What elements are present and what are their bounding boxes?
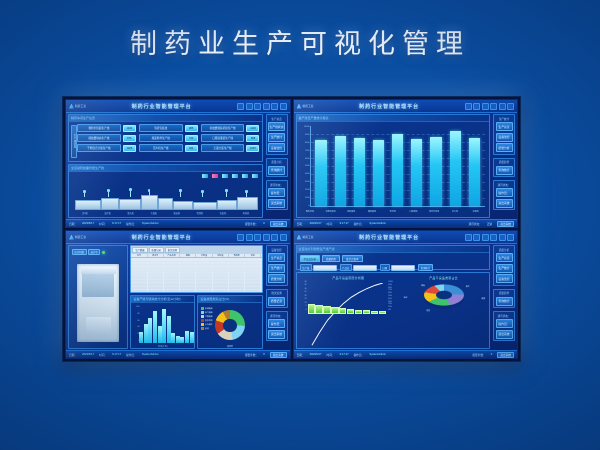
table-cell — [148, 276, 164, 279]
quality-filters[interactable]: 生产线 产品名 日期 — [298, 263, 489, 272]
table-cell — [148, 272, 164, 275]
table-cell — [245, 276, 261, 279]
close-icon[interactable] — [280, 103, 287, 110]
param-label: 硬胶囊填充生产线 — [77, 134, 121, 142]
table-cell — [131, 269, 147, 272]
param-row: 无菌分装生产线 1067 — [201, 144, 260, 152]
pareto-y2-axis: 100% 90% 80% 70% 60% 50% 40% 30% — [388, 282, 398, 312]
table-cell — [196, 272, 212, 275]
production-data-table[interactable]: 生产数据 质量记录 批次追溯 序号 批次号 产品名称 规格 计划量 — [130, 245, 262, 293]
screen4-body: 全自动片剂智能生产线产线 不良品分析 质量趋势 批次合格率 生产线 — [294, 243, 518, 351]
x-tick: 混合分装线 — [428, 210, 441, 213]
y-tick: 40 — [299, 282, 307, 284]
table-cell — [180, 287, 196, 290]
screen3-body: 压片机组 运行中 生产数据 — [66, 243, 290, 351]
capacity-y-axis: 100 80 60 40 20 0 — [132, 307, 139, 343]
screen3-sidebar[interactable]: 设备监控 生产总览 生产统计 质量分析 批次追溯 质量记录 通讯状态： 操作员：… — [265, 243, 290, 351]
table-cell — [229, 258, 245, 261]
sensor-marker-icon — [130, 190, 131, 197]
equipment-unit — [101, 198, 120, 211]
close-icon[interactable] — [280, 234, 287, 241]
table-cell — [180, 269, 196, 272]
table-cell — [164, 262, 180, 265]
status-conn-label: 通讯状态： — [468, 222, 481, 226]
table-cell — [164, 269, 180, 272]
sidebar-item-equipment[interactable]: 设备监控 — [268, 143, 285, 152]
filter-line[interactable]: 生产线 — [300, 264, 337, 271]
restore-icon[interactable] — [473, 103, 480, 110]
status-date-value: 2023/6/17 — [310, 353, 322, 356]
defect-bar — [355, 310, 362, 314]
bar — [373, 140, 384, 206]
table-cell — [245, 258, 261, 261]
sidebar-item-query[interactable]: 查询统计 — [496, 166, 513, 175]
tab-production-data[interactable]: 生产数据 — [132, 247, 147, 253]
screen1-sidebar[interactable]: 生产总览 生产线状态 生产统计 设备监控 质量分析 查询统计 通讯状态： 操作员… — [265, 112, 290, 220]
table-cell — [180, 280, 196, 283]
station-label: 混合机 — [104, 211, 111, 215]
fault-pie-body: 机械故障 电气故障 气路故障 程序异常 人为操作 其他 — [198, 303, 261, 348]
quality-card-title: 全自动片剂智能生产线产线 — [297, 246, 490, 253]
status-alarm-label: 报警条数： — [245, 353, 258, 357]
table-cell — [196, 265, 212, 268]
sidebar-group-query: 质量趋势 查询统计 — [493, 158, 515, 178]
table-cell — [131, 272, 147, 275]
table-cell — [213, 287, 229, 290]
table-cell — [148, 269, 164, 272]
histogram-bar — [167, 316, 171, 343]
screen4-sidebar[interactable]: 质量分析 生产总览 生产统计 设备监控 质量趋势 查询统计 通讯状态： 操作员：… — [492, 243, 517, 351]
sidebar-item-exit[interactable]: 退出系统 — [496, 199, 513, 208]
sidebar-item-overview[interactable]: 生产总览 — [496, 122, 513, 131]
minimize-icon[interactable] — [465, 234, 472, 241]
y-tick: 60 — [132, 321, 139, 323]
status-user-label: 操作员： — [126, 222, 137, 226]
sensor-marker-icon — [180, 191, 181, 197]
legend-item: 其他 — [201, 327, 212, 330]
table-cell — [180, 283, 196, 286]
equipment-main-row: 压片机组 运行中 生产数据 — [68, 245, 263, 349]
screen2-statusbar: 日期： 2023/6/17 时间： 9:17:17 操作员： SystemAdm… — [294, 219, 518, 227]
sidebar-group-equipment: 设备监控 生产总览 生产统计 质量分析 — [266, 245, 288, 286]
table-cell — [213, 276, 229, 279]
table-cell — [164, 290, 180, 293]
sidebar-group-title: 通讯状态： — [268, 183, 285, 187]
defect-bar — [339, 308, 346, 314]
table-cell — [196, 276, 212, 279]
x-tick: 压片线 — [448, 210, 461, 213]
column-header: 批次号 — [148, 254, 164, 257]
production-chart-body: 10000 9000 8000 7000 6000 5000 4000 3000… — [297, 122, 490, 217]
param-value: 742 — [185, 135, 198, 142]
status-time-value: 9:17:17 — [340, 222, 349, 225]
legend-item: 电气故障 — [201, 311, 212, 314]
sidebar-group-trend: 质量趋势 查询统计 — [493, 289, 515, 309]
defect-bar — [379, 311, 386, 314]
x-tick: 口服液线 — [407, 210, 420, 213]
table-cell — [229, 287, 245, 290]
table-cell — [180, 290, 196, 293]
sidebar-item-records[interactable]: 质量记录 — [268, 297, 285, 306]
status-dot-icon — [102, 251, 105, 254]
defect-bar — [315, 305, 322, 314]
machine-state-label: 运行中 — [88, 249, 100, 255]
filter-product[interactable]: 产品名 — [340, 264, 377, 271]
sidebar-item-exit[interactable]: 退出系统 — [496, 330, 513, 339]
column-header: 状态 — [245, 254, 261, 257]
status-date-value: 2023/6/17 — [310, 222, 322, 225]
y-tick: 20 — [132, 334, 139, 336]
sidebar-group-title: 通讯状态： — [496, 183, 513, 187]
exit-system-button[interactable]: 退出系统 — [497, 352, 514, 358]
production-chart-title: 各产线日产量统计报表 — [297, 115, 490, 122]
overview-card-body: 生产线状态 颗粒剂包装生产线 1024 泡罩包装线 985 — [69, 122, 262, 161]
x-tick: 无菌线 — [469, 210, 482, 213]
user-icon[interactable] — [254, 103, 261, 110]
restore-icon[interactable] — [246, 103, 253, 110]
quality-charts-body: 产品不良品原因分析图 40 35 30 25 20 15 — [297, 273, 490, 348]
legend-label: 程序异常 — [205, 319, 213, 322]
restore-icon[interactable] — [473, 234, 480, 241]
exit-system-button[interactable]: 退出系统 — [497, 221, 514, 227]
param-label: 泡罩包装线 — [139, 124, 183, 132]
sidebar-item-exit[interactable]: 退出系统 — [268, 330, 285, 339]
minimize-icon[interactable] — [237, 103, 244, 110]
bar — [315, 140, 326, 206]
machine-photo: 压片机组 运行中 — [68, 245, 128, 349]
y-tick: 5 — [299, 306, 307, 308]
param-label: 口服液灌装生产线 — [201, 134, 245, 142]
sidebar-item-user[interactable]: 操作员： — [496, 188, 513, 197]
minimize-icon[interactable] — [237, 234, 244, 241]
sidebar-item-production[interactable]: 生产统计 — [268, 133, 285, 142]
param-row: 硬胶囊填充生产线 876 — [77, 134, 136, 142]
equipment-charts: 设备产能与能耗统计分析(近12小时) 100 80 60 40 20 — [130, 295, 262, 349]
status-conn-value: 正常 — [487, 222, 492, 226]
machine-status-badge: 压片机组 运行中 — [72, 249, 105, 255]
close-icon[interactable] — [507, 103, 514, 110]
status-time-label: 时间： — [327, 353, 335, 357]
fault-pie-card: 设备故障类别占比(%) 机械故障 电气故障 气路故障 程序异常 — [197, 295, 262, 349]
defect-bars — [308, 303, 387, 313]
table-rows[interactable] — [131, 258, 261, 293]
table-cell — [229, 283, 245, 286]
param-label: 干粉混合分装生产线 — [77, 144, 121, 152]
x-tick: 泡罩包装线 — [324, 210, 337, 213]
pie-label: 色差 — [426, 309, 430, 312]
x-tick: 软胶囊线 — [345, 210, 358, 213]
help-icon[interactable] — [271, 234, 278, 241]
capacity-x-label: 时间(小时) — [131, 345, 194, 348]
histogram-bar — [144, 324, 148, 343]
legend-label: 人为操作 — [205, 323, 213, 326]
sidebar-item-production[interactable]: 生产统计 — [268, 264, 285, 273]
y-tick: 3000 — [301, 181, 310, 183]
y-tick: 4000 — [301, 173, 310, 175]
table-cell — [148, 262, 164, 265]
screen2-window-controls[interactable] — [465, 103, 518, 110]
sidebar-item-quality[interactable]: 质量分析 — [268, 274, 285, 283]
bar — [392, 134, 403, 206]
filter-product-select[interactable] — [353, 265, 377, 271]
exit-system-button[interactable]: 退出系统 — [270, 221, 287, 227]
equipment-unit — [193, 202, 217, 210]
sidebar-group-production: 生产统计 生产总览 设备监控 质量分析 — [493, 114, 515, 155]
production-line-body: 上料机 混合机 制丸机 干燥机 筛选机 检测机 包装机 码垛机 — [69, 172, 262, 217]
exit-system-button[interactable]: 退出系统 — [270, 352, 287, 358]
table-cell — [245, 262, 261, 265]
table-cell — [213, 290, 229, 293]
station-label: 包装机 — [220, 211, 227, 215]
print-icon[interactable] — [490, 234, 497, 241]
table-cell — [229, 265, 245, 268]
filter-date-input[interactable] — [391, 265, 415, 271]
y-tick: 6000 — [301, 158, 310, 160]
screen-equipment[interactable]: 制药工业 制药行业智能管理平台 压片机 — [65, 230, 291, 359]
y-tick: 2000 — [301, 189, 310, 191]
sidebar-item-user[interactable]: 操作员： — [268, 319, 285, 328]
restore-icon[interactable] — [246, 234, 253, 241]
help-icon[interactable] — [499, 234, 506, 241]
sidebar-item-query[interactable]: 查询统计 — [496, 297, 513, 306]
param-row: 干粉混合分装生产线 1205 — [77, 144, 136, 152]
equipment-unit — [173, 201, 193, 210]
x-tick: 颗粒剂线 — [303, 210, 316, 213]
sidebar-group-title: 批次追溯 — [268, 291, 285, 295]
table-cell — [245, 290, 261, 293]
equipment-row — [73, 196, 258, 210]
screen1-body: 制药车间生产总览 生产线状态 颗粒剂包装生产线 1024 — [66, 112, 290, 220]
filter-date[interactable]: 日期 — [380, 264, 415, 271]
column-header: 合格率 — [229, 254, 245, 257]
equipment-unit — [119, 199, 141, 210]
quality-charts-card: 产品不良品原因分析图 40 35 30 25 20 15 — [296, 272, 491, 349]
screen-production-chart[interactable]: 制药工业 制药行业智能管理平台 各产线日产量统计报表 — [293, 99, 519, 228]
triangle-logo-icon — [297, 104, 302, 109]
status-date-label: 日期： — [297, 353, 305, 357]
screen3-statusbar: 日期： 2023/6/17 时间： 9:17:17 操作员： SystemAdm… — [66, 350, 290, 358]
equipment-unit — [237, 197, 257, 210]
defect-bar — [308, 304, 315, 314]
status-flag-icon — [212, 174, 218, 178]
station-label: 制丸机 — [127, 211, 134, 215]
user-icon[interactable] — [482, 103, 489, 110]
param-row: 压片机生产线 934 — [139, 144, 198, 152]
user-icon[interactable] — [254, 234, 261, 241]
status-user-value: SystemAdmin — [369, 353, 386, 356]
machine-head — [81, 267, 116, 273]
table-cell — [164, 276, 180, 279]
table-cell — [131, 265, 147, 268]
equipment-unit — [75, 200, 101, 210]
status-alarm-label: 报警条数： — [472, 353, 485, 357]
sidebar-item-quality[interactable]: 查询统计 — [268, 166, 285, 175]
tab-defect-analysis[interactable]: 不良品分析 — [300, 255, 321, 262]
production-line-title: 全自动软胶囊智能生产线 — [69, 165, 262, 172]
quality-tabs[interactable]: 不良品分析 质量趋势 批次合格率 — [298, 254, 489, 263]
status-time-value: 9:17:17 — [112, 222, 121, 225]
x-tick: 硬胶囊线 — [365, 210, 378, 213]
column-header: 计划量 — [196, 254, 212, 257]
print-icon[interactable] — [263, 234, 270, 241]
print-icon[interactable] — [490, 103, 497, 110]
sidebar-item-equipment[interactable]: 设备监控 — [496, 274, 513, 283]
table-cell — [213, 262, 229, 265]
status-time-label: 时间： — [327, 222, 335, 226]
equipment-unit — [217, 200, 237, 210]
y-tick: 40 — [132, 327, 139, 329]
sidebar-group-system: 通讯状态： 操作员： 退出系统 — [266, 311, 288, 341]
table-cell — [196, 258, 212, 261]
close-icon[interactable] — [507, 234, 514, 241]
minimize-icon[interactable] — [465, 103, 472, 110]
screen-quality[interactable]: 制药工业 制药行业智能管理平台 全自动片剂智能生产线产线 — [293, 230, 519, 359]
sidebar-item-production[interactable]: 生产统计 — [496, 264, 513, 273]
table-cell — [229, 280, 245, 283]
status-user-label: 操作员： — [126, 353, 137, 357]
defect-bar — [363, 310, 370, 314]
status-user-value: SystemAdmin — [142, 222, 159, 225]
sidebar-group-title: 质量分析 — [268, 160, 285, 164]
y-tick: 8000 — [301, 142, 310, 144]
query-button[interactable]: 查询统计 — [418, 264, 434, 271]
pie-label: 裂片 — [466, 285, 470, 288]
brand-name: 制药工业 — [75, 104, 86, 108]
sidebar-item-user[interactable]: 操作员： — [496, 319, 513, 328]
x-tick: 粉剂线 — [386, 210, 399, 213]
param-label: 压片机生产线 — [139, 144, 183, 152]
table-cell — [148, 280, 164, 283]
legend-label: 机械故障 — [205, 307, 213, 310]
line-status-tab[interactable]: 生产线状态 — [71, 125, 77, 158]
tablet-press-illustration — [77, 264, 119, 342]
tab-quality-records[interactable]: 质量记录 — [149, 247, 164, 253]
legend-item: 程序异常 — [201, 319, 212, 322]
sidebar-item-user[interactable]: 操作员： — [268, 188, 285, 197]
table-cell — [245, 269, 261, 272]
sensor-marker-icon — [84, 192, 85, 197]
station-label: 上料机 — [81, 211, 88, 215]
table-cell — [245, 272, 261, 275]
brand-logo: 制药工业 — [66, 104, 86, 109]
table-cell — [213, 258, 229, 261]
sidebar-group-title: 通讯状态： — [268, 314, 285, 318]
production-line-diagram[interactable]: 上料机 混合机 制丸机 干燥机 筛选机 检测机 包装机 码垛机 — [71, 174, 260, 215]
help-icon[interactable] — [271, 103, 278, 110]
defect-bar — [371, 311, 378, 314]
cumulative-line — [308, 283, 387, 359]
table-cell — [164, 258, 180, 261]
tab-quality-trend[interactable]: 质量趋势 — [322, 255, 340, 262]
station-label: 检测机 — [197, 211, 204, 215]
screen1-window-controls[interactable] — [237, 103, 290, 110]
sidebar-item-overview[interactable]: 生产总览 — [496, 253, 513, 262]
video-wall: 制药工业 制药行业智能管理平台 制药车间生产总览 — [62, 96, 521, 362]
defect-pie: 产品不良品类别占比 粘冲 缺角 裂片 硬度 色差 — [400, 275, 487, 315]
y-tick: 10 — [299, 303, 307, 305]
sidebar-group-title: 通讯状态： — [496, 314, 513, 318]
screen2-content: 各产线日产量统计报表 10000 9000 8000 7000 6000 500… — [294, 112, 493, 220]
sensor-marker-icon — [149, 191, 150, 197]
fault-donut-chart — [215, 310, 245, 340]
table-cell — [213, 280, 229, 283]
fault-x-label: 故障类 — [198, 345, 261, 348]
status-alarm-value: 0 — [263, 353, 265, 356]
station-label: 码垛机 — [243, 211, 250, 215]
user-icon[interactable] — [482, 234, 489, 241]
defect-bar — [347, 309, 354, 314]
help-icon[interactable] — [499, 103, 506, 110]
screen4-window-controls[interactable] — [465, 234, 518, 241]
brand-logo: 制药工业 — [66, 235, 86, 240]
table-row[interactable] — [131, 290, 261, 293]
param-label: 软胶囊灌装机组生产线 — [201, 124, 245, 132]
table-cell — [213, 283, 229, 286]
legend-item: 人为操作 — [201, 323, 212, 326]
screen-overview[interactable]: 制药工业 制药行业智能管理平台 制药车间生产总览 — [65, 99, 291, 228]
bar-chart: 10000 9000 8000 7000 6000 5000 4000 3000… — [299, 124, 488, 215]
sensor-marker-icon — [246, 192, 247, 197]
sidebar-group-title: 生产统计 — [496, 117, 513, 121]
sensor-marker-icon — [226, 191, 227, 197]
sidebar-group-title: 质量趋势 — [496, 291, 513, 295]
sidebar-item-overview[interactable]: 生产总览 — [268, 253, 285, 262]
histogram-bar — [185, 331, 189, 343]
pie-label: 硬度 — [481, 297, 485, 300]
status-date-label: 日期： — [69, 353, 77, 357]
line-status-tab-label: 生产线状态 — [72, 134, 76, 149]
status-alarm-label: 报警条数： — [245, 222, 258, 226]
station-labels: 上料机 混合机 制丸机 干燥机 筛选机 检测机 包装机 码垛机 — [73, 211, 258, 215]
screen2-sidebar[interactable]: 生产统计 生产总览 设备监控 质量分析 质量趋势 查询统计 通讯状态： 操作员：… — [492, 112, 517, 220]
y-tick: 0 — [301, 205, 310, 207]
table-cell — [180, 258, 196, 261]
equipment-unit — [141, 195, 158, 210]
status-flag-icon — [232, 174, 238, 178]
defect-bar — [331, 307, 338, 314]
y-tick: 20 — [299, 296, 307, 298]
screen3-window-controls[interactable] — [237, 234, 290, 241]
bar — [469, 138, 480, 206]
sidebar-group-quality: 质量分析 查询统计 — [266, 158, 288, 178]
column-header: 实际量 — [213, 254, 229, 257]
sidebar-item-quality[interactable]: 质量分析 — [496, 143, 513, 152]
histogram-bar — [171, 333, 175, 343]
table-cell — [229, 276, 245, 279]
table-tabs[interactable]: 生产数据 质量记录 批次追溯 — [131, 246, 261, 254]
legend-label: 电气故障 — [205, 311, 213, 314]
overview-param-grid: 颗粒剂包装生产线 1024 泡罩包装线 985 软胶囊灌装机组生产线 1130 — [71, 124, 260, 152]
legend-item: 机械故障 — [201, 307, 212, 310]
tab-batch-trace[interactable]: 批次追溯 — [165, 247, 180, 253]
param-row: 泡罩包装线 985 — [139, 124, 198, 132]
sidebar-group-trace: 批次追溯 质量记录 — [266, 289, 288, 309]
sidebar-item-exit[interactable]: 退出系统 — [268, 199, 285, 208]
param-value: 934 — [185, 145, 198, 152]
table-cell — [164, 283, 180, 286]
histogram-bar — [176, 336, 180, 343]
status-date-label: 日期： — [69, 222, 77, 226]
tab-batch-pass-rate[interactable]: 批次合格率 — [342, 255, 363, 262]
sidebar-item-overview[interactable]: 生产线状态 — [268, 122, 285, 131]
print-icon[interactable] — [263, 103, 270, 110]
param-row: 颗粒剂包装生产线 1024 — [77, 124, 136, 132]
screen3-content: 压片机组 运行中 生产数据 — [66, 243, 265, 351]
status-date-label: 日期： — [297, 222, 305, 226]
table-cell — [213, 272, 229, 275]
sidebar-item-equipment[interactable]: 设备监控 — [496, 133, 513, 142]
filter-line-select[interactable] — [313, 265, 337, 271]
